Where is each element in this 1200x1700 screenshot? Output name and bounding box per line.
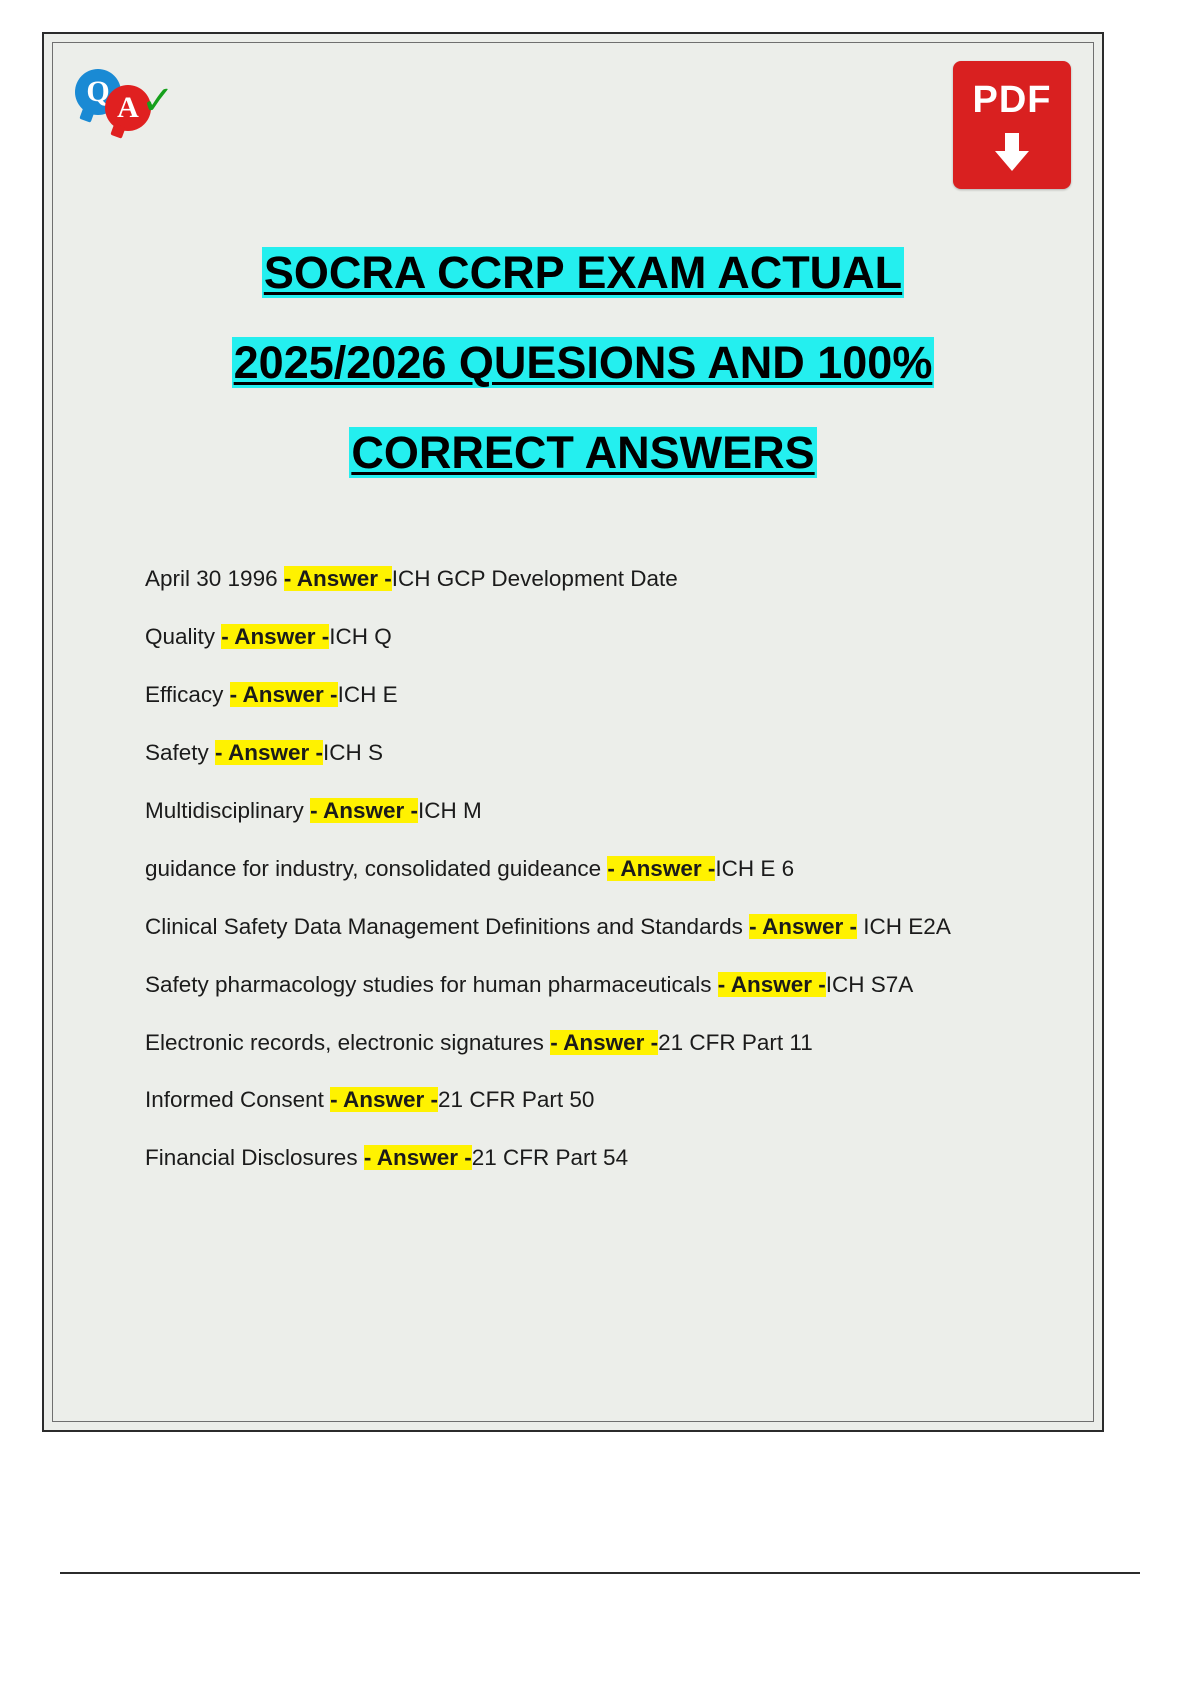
- item-answer-marker: - Answer -: [330, 1087, 438, 1112]
- document-title: SOCRA CCRP EXAM ACTUAL 2025/2026 QUESION…: [123, 228, 1043, 498]
- qa-logo: Q A ✓: [75, 61, 205, 131]
- list-item: Efficacy - Answer -ICH E: [145, 679, 1025, 711]
- item-question: Clinical Safety Data Management Definiti…: [145, 914, 749, 939]
- document-page: Q A ✓ PDF SOCRA CCRP EXAM ACTUAL 2025/20…: [0, 0, 1200, 1525]
- list-item: guidance for industry, consolidated guid…: [145, 853, 1025, 885]
- item-answer: 21 CFR Part 50: [438, 1087, 594, 1112]
- item-question: Efficacy: [145, 682, 230, 707]
- item-question: Informed Consent: [145, 1087, 330, 1112]
- item-answer-marker: - Answer -: [749, 914, 857, 939]
- item-answer: ICH E: [338, 682, 398, 707]
- pdf-download-badge[interactable]: PDF: [953, 61, 1071, 189]
- list-item: Multidisciplinary - Answer -ICH M: [145, 795, 1025, 827]
- list-item: Clinical Safety Data Management Definiti…: [145, 911, 1025, 943]
- list-item: Financial Disclosures - Answer -21 CFR P…: [145, 1142, 1025, 1174]
- document-sheet: Q A ✓ PDF SOCRA CCRP EXAM ACTUAL 2025/20…: [42, 32, 1104, 1432]
- check-icon: ✓: [141, 81, 175, 121]
- list-item: April 30 1996 - Answer -ICH GCP Developm…: [145, 563, 1025, 595]
- item-question: guidance for industry, consolidated guid…: [145, 856, 607, 881]
- download-arrow-icon: [995, 133, 1029, 173]
- item-answer: ICH S7A: [826, 972, 914, 997]
- item-answer-marker: - Answer -: [364, 1145, 472, 1170]
- item-answer: ICH S: [323, 740, 383, 765]
- document-inner-border: Q A ✓ PDF SOCRA CCRP EXAM ACTUAL 2025/20…: [52, 42, 1094, 1422]
- list-item: Electronic records, electronic signature…: [145, 1027, 1025, 1059]
- item-question: Quality: [145, 624, 221, 649]
- item-answer: ICH Q: [329, 624, 392, 649]
- item-question: Financial Disclosures: [145, 1145, 364, 1170]
- title-line-3: CORRECT ANSWERS: [349, 427, 816, 478]
- item-answer-marker: - Answer -: [607, 856, 715, 881]
- list-item: Informed Consent - Answer -21 CFR Part 5…: [145, 1084, 1025, 1116]
- list-item: Safety pharmacology studies for human ph…: [145, 969, 1025, 1001]
- divider: [60, 1572, 1140, 1574]
- item-answer: 21 CFR Part 11: [658, 1030, 813, 1055]
- item-answer-marker: - Answer -: [215, 740, 323, 765]
- item-answer: ICH E 6: [715, 856, 794, 881]
- item-answer: ICH M: [418, 798, 482, 823]
- item-question: Electronic records, electronic signature…: [145, 1030, 550, 1055]
- item-answer-marker: - Answer -: [310, 798, 418, 823]
- list-item: Quality - Answer -ICH Q: [145, 621, 1025, 653]
- qa-list: April 30 1996 - Answer -ICH GCP Developm…: [145, 563, 1025, 1200]
- item-answer-marker: - Answer -: [718, 972, 826, 997]
- pdf-label: PDF: [953, 79, 1071, 122]
- title-line-2: 2025/2026 QUESIONS AND 100%: [232, 337, 935, 388]
- item-answer: ICH E2A: [863, 914, 951, 939]
- answer-bubble-letter: A: [117, 91, 139, 124]
- next-page-preview: [0, 1525, 1200, 1700]
- item-question: Multidisciplinary: [145, 798, 310, 823]
- item-answer: 21 CFR Part 54: [472, 1145, 628, 1170]
- title-line-1: SOCRA CCRP EXAM ACTUAL: [262, 247, 904, 298]
- item-answer: ICH GCP Development Date: [392, 566, 678, 591]
- item-question: Safety pharmacology studies for human ph…: [145, 972, 718, 997]
- item-question: Safety: [145, 740, 215, 765]
- list-item: Safety - Answer -ICH S: [145, 737, 1025, 769]
- item-answer-marker: - Answer -: [550, 1030, 658, 1055]
- item-answer-marker: - Answer -: [284, 566, 392, 591]
- item-answer-marker: - Answer -: [221, 624, 329, 649]
- item-question: April 30 1996: [145, 566, 284, 591]
- item-answer-marker: - Answer -: [230, 682, 338, 707]
